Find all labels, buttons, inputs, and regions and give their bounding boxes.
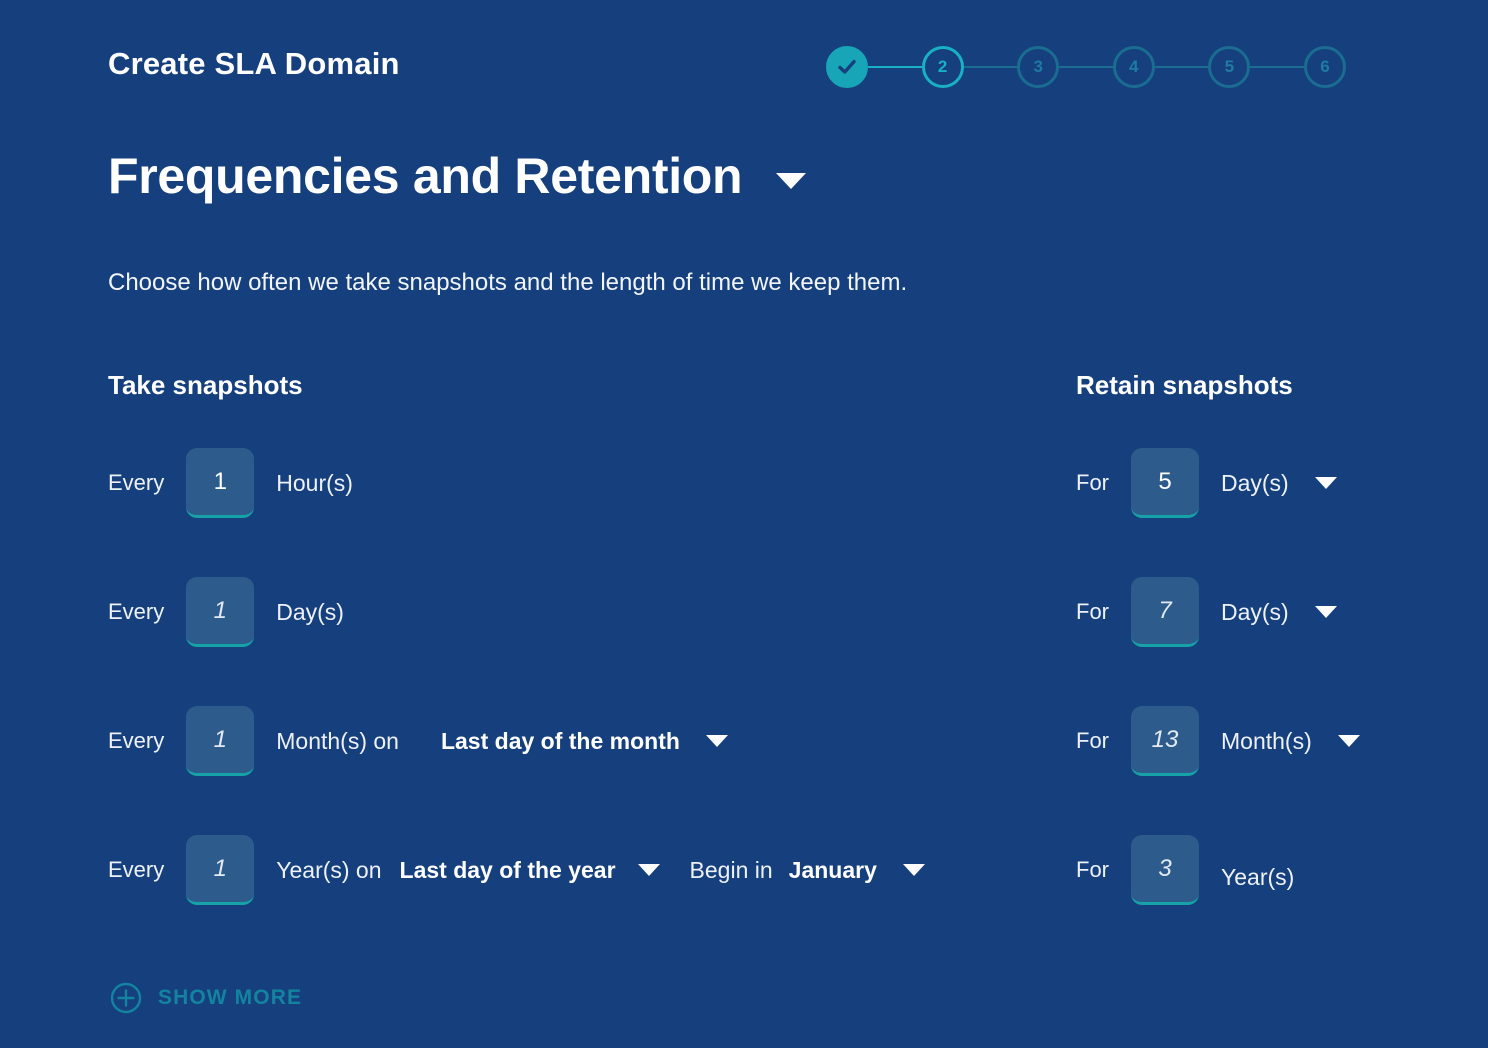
- take-frequency-input-yearly[interactable]: 1: [186, 835, 254, 905]
- section-subtitle: Choose how often we take snapshots and t…: [108, 266, 907, 300]
- begin-month-select-value[interactable]: January: [789, 855, 877, 885]
- show-more-button[interactable]: SHOW MORE: [110, 982, 302, 1014]
- stepper-step-4-label: 4: [1129, 57, 1138, 77]
- chevron-down-icon[interactable]: [776, 173, 806, 189]
- stepper-connector-2: [964, 66, 1018, 68]
- frequency-row-monthly: Every 1 Month(s) on Last day of the mont…: [0, 698, 1488, 827]
- take-lead-label-yearly: Every: [108, 856, 164, 884]
- retain-duration-input-hourly[interactable]: 5: [1131, 448, 1199, 518]
- retain-unit-label-yearly: Year(s): [1221, 862, 1294, 892]
- retain-group-yearly: For 3 Year(s): [1076, 827, 1294, 913]
- take-frequency-input-hourly[interactable]: 1: [186, 448, 254, 518]
- take-group-yearly: Every 1 Year(s) on Last day of the year …: [108, 827, 925, 913]
- retain-snapshots-heading: Retain snapshots: [1076, 368, 1293, 402]
- stepper-step-5[interactable]: 5: [1208, 46, 1250, 88]
- plus-circle-icon: [110, 982, 142, 1014]
- stepper-step-2[interactable]: 2: [922, 46, 964, 88]
- take-day-select-value-monthly[interactable]: Last day of the month: [441, 726, 680, 756]
- take-day-select-value-yearly[interactable]: Last day of the year: [400, 855, 616, 885]
- retain-lead-label-yearly: For: [1076, 856, 1109, 884]
- stepper-step-4[interactable]: 4: [1113, 46, 1155, 88]
- stepper-step-5-label: 5: [1225, 57, 1234, 77]
- retain-unit-dropdown-icon-hourly[interactable]: [1315, 477, 1337, 489]
- retain-lead-label-hourly: For: [1076, 469, 1109, 497]
- retain-duration-input-daily[interactable]: 7: [1131, 577, 1199, 647]
- retain-unit-label-hourly: Day(s): [1221, 468, 1289, 498]
- stepper-step-6-label: 6: [1320, 57, 1329, 77]
- stepper-connector-4: [1155, 66, 1209, 68]
- retain-unit-dropdown-icon-daily[interactable]: [1315, 606, 1337, 618]
- retain-lead-label-monthly: For: [1076, 727, 1109, 755]
- frequency-row-daily: Every 1 Day(s) For 7 Day(s): [0, 569, 1488, 698]
- take-snapshots-heading: Take snapshots: [108, 368, 303, 402]
- retain-unit-label-monthly: Month(s): [1221, 726, 1312, 756]
- begin-in-label: Begin in: [690, 855, 773, 885]
- show-more-label: SHOW MORE: [158, 986, 302, 1010]
- take-unit-label-yearly: Year(s) on: [276, 855, 381, 885]
- take-lead-label-hourly: Every: [108, 469, 164, 497]
- page-title: Frequencies and Retention: [108, 144, 742, 208]
- stepper-step-3[interactable]: 3: [1017, 46, 1059, 88]
- stepper-connector-1: [868, 66, 922, 68]
- section-header[interactable]: Frequencies and Retention: [108, 144, 806, 208]
- take-unit-label-monthly: Month(s) on: [276, 726, 399, 756]
- retain-lead-label-daily: For: [1076, 598, 1109, 626]
- take-day-dropdown-icon-yearly[interactable]: [638, 864, 660, 876]
- take-group-monthly: Every 1 Month(s) on Last day of the mont…: [108, 698, 728, 784]
- stepper-step-6[interactable]: 6: [1304, 46, 1346, 88]
- wizard-title: Create SLA Domain: [108, 44, 400, 84]
- retain-duration-input-monthly[interactable]: 13: [1131, 706, 1199, 776]
- stepper-step-1[interactable]: [826, 46, 868, 88]
- check-icon: [836, 56, 858, 78]
- take-group-daily: Every 1 Day(s): [108, 569, 344, 655]
- retain-unit-dropdown-icon-monthly[interactable]: [1338, 735, 1360, 747]
- stepper-connector-5: [1250, 66, 1304, 68]
- take-unit-label-daily: Day(s): [276, 597, 344, 627]
- retain-group-hourly: For 5 Day(s): [1076, 440, 1337, 526]
- stepper-step-3-label: 3: [1033, 57, 1042, 77]
- take-lead-label-daily: Every: [108, 598, 164, 626]
- wizard-header: Create SLA Domain 2 3 4 5 6: [0, 0, 1488, 118]
- retain-duration-input-yearly[interactable]: 3: [1131, 835, 1199, 905]
- retain-unit-label-daily: Day(s): [1221, 597, 1289, 627]
- retain-group-monthly: For 13 Month(s): [1076, 698, 1360, 784]
- stepper-step-2-label: 2: [938, 57, 947, 77]
- frequency-rows: Every 1 Hour(s) For 5 Day(s) Every 1 Day…: [0, 440, 1488, 956]
- take-group-hourly: Every 1 Hour(s): [108, 440, 353, 526]
- take-frequency-input-monthly[interactable]: 1: [186, 706, 254, 776]
- take-day-dropdown-icon-monthly[interactable]: [706, 735, 728, 747]
- wizard-stepper: 2 3 4 5 6: [826, 45, 1346, 89]
- begin-month-dropdown-icon[interactable]: [903, 864, 925, 876]
- stepper-connector-3: [1059, 66, 1113, 68]
- frequency-row-hourly: Every 1 Hour(s) For 5 Day(s): [0, 440, 1488, 569]
- frequency-row-yearly: Every 1 Year(s) on Last day of the year …: [0, 827, 1488, 956]
- retain-group-daily: For 7 Day(s): [1076, 569, 1337, 655]
- take-frequency-input-daily[interactable]: 1: [186, 577, 254, 647]
- take-lead-label-monthly: Every: [108, 727, 164, 755]
- take-unit-label-hourly: Hour(s): [276, 468, 353, 498]
